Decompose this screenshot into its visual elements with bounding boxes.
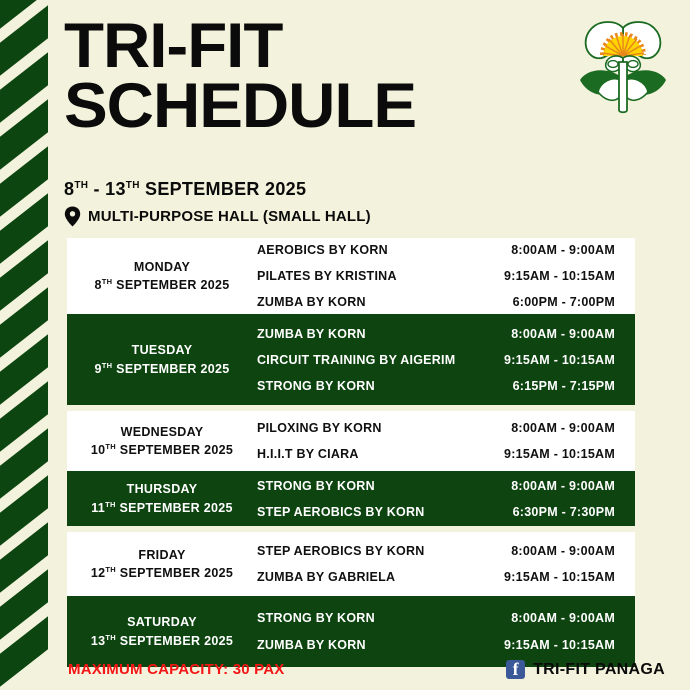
day-name: SATURDAY xyxy=(127,613,197,631)
day-date: 9TH SEPTEMBER 2025 xyxy=(95,360,230,378)
day-cell: WEDNESDAY 10TH SEPTEMBER 2025 xyxy=(67,411,257,471)
day-date-ordinal: TH xyxy=(102,277,113,286)
day-date-ordinal: TH xyxy=(105,565,116,574)
day-cell: THURSDAY 11TH SEPTEMBER 2025 xyxy=(67,471,257,526)
day-date-rest: SEPTEMBER 2025 xyxy=(112,362,229,376)
session-time: 8:00AM - 9:00AM xyxy=(467,243,635,257)
session-class: AEROBICS BY KORN xyxy=(257,243,467,257)
session-row[interactable]: STRONG BY KORN 8:00AM - 9:00AM xyxy=(257,604,635,632)
day-date: 11TH SEPTEMBER 2025 xyxy=(91,499,232,517)
day-date-ordinal: TH xyxy=(105,499,116,508)
day-cell: SATURDAY 13TH SEPTEMBER 2025 xyxy=(67,596,257,667)
session-time: 9:15AM - 10:15AM xyxy=(467,447,635,461)
day-date-num: 11 xyxy=(91,501,105,515)
day-date: 12TH SEPTEMBER 2025 xyxy=(91,564,233,582)
day-date-num: 13 xyxy=(91,634,106,648)
day-name: WEDNESDAY xyxy=(121,423,204,441)
decorative-stripe-band xyxy=(0,0,48,690)
title-line-2: SCHEDULE xyxy=(64,78,416,136)
poster-header: TRI-FIT SCHEDULE 8TH - 13TH SEPTEMBER 20… xyxy=(0,0,690,238)
facebook-icon[interactable] xyxy=(506,660,525,679)
day-date-num: 12 xyxy=(91,566,106,580)
session-time: 9:15AM - 10:15AM xyxy=(467,353,635,367)
sessions-cell: ZUMBA BY KORN 8:00AM - 9:00AM CIRCUIT TR… xyxy=(257,314,635,405)
session-class: STEP AEROBICS BY KORN xyxy=(257,544,467,558)
day-cell: MONDAY 8TH SEPTEMBER 2025 xyxy=(67,238,257,314)
day-cell: TUESDAY 9TH SEPTEMBER 2025 xyxy=(67,314,257,405)
day-cell: FRIDAY 12TH SEPTEMBER 2025 xyxy=(67,532,257,596)
table-row[interactable]: MONDAY 8TH SEPTEMBER 2025 AEROBICS BY KO… xyxy=(67,238,635,314)
location-pin-icon xyxy=(64,206,81,227)
session-class: ZUMBA BY KORN xyxy=(257,327,467,341)
table-row[interactable]: TUESDAY 9TH SEPTEMBER 2025 ZUMBA BY KORN… xyxy=(67,314,635,405)
sessions-cell: PILOXING BY KORN 8:00AM - 9:00AM H.I.I.T… xyxy=(257,411,635,471)
date-range-month: SEPTEMBER 2025 xyxy=(140,179,307,199)
sessions-cell: STRONG BY KORN 8:00AM - 9:00AM ZUMBA BY … xyxy=(257,596,635,667)
session-class: PILOXING BY KORN xyxy=(257,421,467,435)
session-time: 6:30PM - 7:30PM xyxy=(467,505,635,519)
session-time: 8:00AM - 9:00AM xyxy=(467,611,635,625)
title-line-1: TRI-FIT xyxy=(64,18,416,76)
session-time: 8:00AM - 9:00AM xyxy=(467,327,635,341)
session-class: ZUMBA BY KORN xyxy=(257,638,467,652)
session-row[interactable]: CIRCUIT TRAINING BY AIGERIM 9:15AM - 10:… xyxy=(257,347,635,373)
max-capacity-note: MAXIMUM CAPACITY: 30 PAX xyxy=(68,661,284,678)
day-date-rest: SEPTEMBER 2025 xyxy=(116,443,233,457)
day-name: FRIDAY xyxy=(138,546,185,564)
sessions-cell: STRONG BY KORN 8:00AM - 9:00AM STEP AERO… xyxy=(257,471,635,526)
session-time: 8:00AM - 9:00AM xyxy=(467,544,635,558)
session-row[interactable]: STRONG BY KORN 8:00AM - 9:00AM xyxy=(257,473,635,499)
schedule-table: MONDAY 8TH SEPTEMBER 2025 AEROBICS BY KO… xyxy=(67,238,635,667)
session-class: CIRCUIT TRAINING BY AIGERIM xyxy=(257,353,467,367)
date-range-day1: 8 xyxy=(64,179,74,199)
day-date: 13TH SEPTEMBER 2025 xyxy=(91,632,233,650)
day-date: 10TH SEPTEMBER 2025 xyxy=(91,441,233,459)
session-time: 6:00PM - 7:00PM xyxy=(467,295,635,309)
session-class: STRONG BY KORN xyxy=(257,479,467,493)
session-time: 8:00AM - 9:00AM xyxy=(467,479,635,493)
day-name: TUESDAY xyxy=(132,341,193,359)
session-class: ZUMBA BY KORN xyxy=(257,295,467,309)
day-date-rest: SEPTEMBER 2025 xyxy=(116,566,233,580)
day-date-num: 9 xyxy=(95,362,102,376)
table-row[interactable]: SATURDAY 13TH SEPTEMBER 2025 STRONG BY K… xyxy=(67,596,635,667)
session-time: 9:15AM - 10:15AM xyxy=(467,638,635,652)
day-date-ordinal: TH xyxy=(105,632,116,641)
session-class: STEP AEROBICS BY KORN xyxy=(257,505,467,519)
table-row[interactable]: THURSDAY 11TH SEPTEMBER 2025 STRONG BY K… xyxy=(67,471,635,526)
session-time: 8:00AM - 9:00AM xyxy=(467,421,635,435)
session-row[interactable]: STEP AEROBICS BY KORN 8:00AM - 9:00AM xyxy=(257,538,635,564)
social-handle-row[interactable]: TRI-FIT PANAGA xyxy=(506,660,665,679)
session-row[interactable]: H.I.I.T BY CIARA 9:15AM - 10:15AM xyxy=(257,441,635,467)
social-handle-label: TRI-FIT PANAGA xyxy=(533,661,665,679)
date-range-ordinal2: TH xyxy=(126,180,140,191)
date-range-day2: 13 xyxy=(105,179,126,199)
day-name: THURSDAY xyxy=(127,480,198,498)
date-range-ordinal1: TH xyxy=(74,180,88,191)
sessions-cell: AEROBICS BY KORN 8:00AM - 9:00AM PILATES… xyxy=(257,238,635,314)
session-class: ZUMBA BY GABRIELA xyxy=(257,570,467,584)
table-row[interactable]: FRIDAY 12TH SEPTEMBER 2025 STEP AEROBICS… xyxy=(67,532,635,596)
session-row[interactable]: PILOXING BY KORN 8:00AM - 9:00AM xyxy=(257,415,635,441)
day-date-rest: SEPTEMBER 2025 xyxy=(112,278,229,292)
session-class: STRONG BY KORN xyxy=(257,611,467,625)
session-row[interactable]: STEP AEROBICS BY KORN 6:30PM - 7:30PM xyxy=(257,499,635,525)
day-date-num: 10 xyxy=(91,443,106,457)
session-class: STRONG BY KORN xyxy=(257,379,467,393)
day-date-rest: SEPTEMBER 2025 xyxy=(116,634,233,648)
session-time: 9:15AM - 10:15AM xyxy=(467,269,635,283)
session-row[interactable]: ZUMBA BY KORN 6:00PM - 7:00PM xyxy=(257,289,635,315)
tri-fit-flower-logo xyxy=(568,14,678,124)
session-row[interactable]: ZUMBA BY GABRIELA 9:15AM - 10:15AM xyxy=(257,564,635,590)
session-class: PILATES BY KRISTINA xyxy=(257,269,467,283)
date-range-dash: - xyxy=(88,179,105,199)
day-date-ordinal: TH xyxy=(105,442,116,451)
day-date: 8TH SEPTEMBER 2025 xyxy=(95,276,230,294)
table-row[interactable]: WEDNESDAY 10TH SEPTEMBER 2025 PILOXING B… xyxy=(67,411,635,471)
date-range: 8TH - 13TH SEPTEMBER 2025 xyxy=(64,179,306,200)
sessions-cell: STEP AEROBICS BY KORN 8:00AM - 9:00AM ZU… xyxy=(257,532,635,596)
session-row[interactable]: AEROBICS BY KORN 8:00AM - 9:00AM xyxy=(257,237,635,263)
session-time: 6:15PM - 7:15PM xyxy=(467,379,635,393)
session-class: H.I.I.T BY CIARA xyxy=(257,447,467,461)
page-title: TRI-FIT SCHEDULE xyxy=(64,18,403,136)
day-name: MONDAY xyxy=(134,258,190,276)
session-row[interactable]: ZUMBA BY KORN 8:00AM - 9:00AM xyxy=(257,321,635,347)
venue-label: MULTI-PURPOSE HALL (SMALL HALL) xyxy=(88,208,371,225)
poster-footer: MAXIMUM CAPACITY: 30 PAX TRI-FIT PANAGA xyxy=(0,658,690,690)
day-date-rest: SEPTEMBER 2025 xyxy=(116,501,233,515)
session-row[interactable]: STRONG BY KORN 6:15PM - 7:15PM xyxy=(257,373,635,399)
session-row[interactable]: PILATES BY KRISTINA 9:15AM - 10:15AM xyxy=(257,263,635,289)
day-date-num: 8 xyxy=(95,278,102,292)
session-time: 9:15AM - 10:15AM xyxy=(467,570,635,584)
session-row[interactable]: ZUMBA BY KORN 9:15AM - 10:15AM xyxy=(257,632,635,660)
venue-row: MULTI-PURPOSE HALL (SMALL HALL) xyxy=(64,206,371,227)
day-date-ordinal: TH xyxy=(102,360,113,369)
